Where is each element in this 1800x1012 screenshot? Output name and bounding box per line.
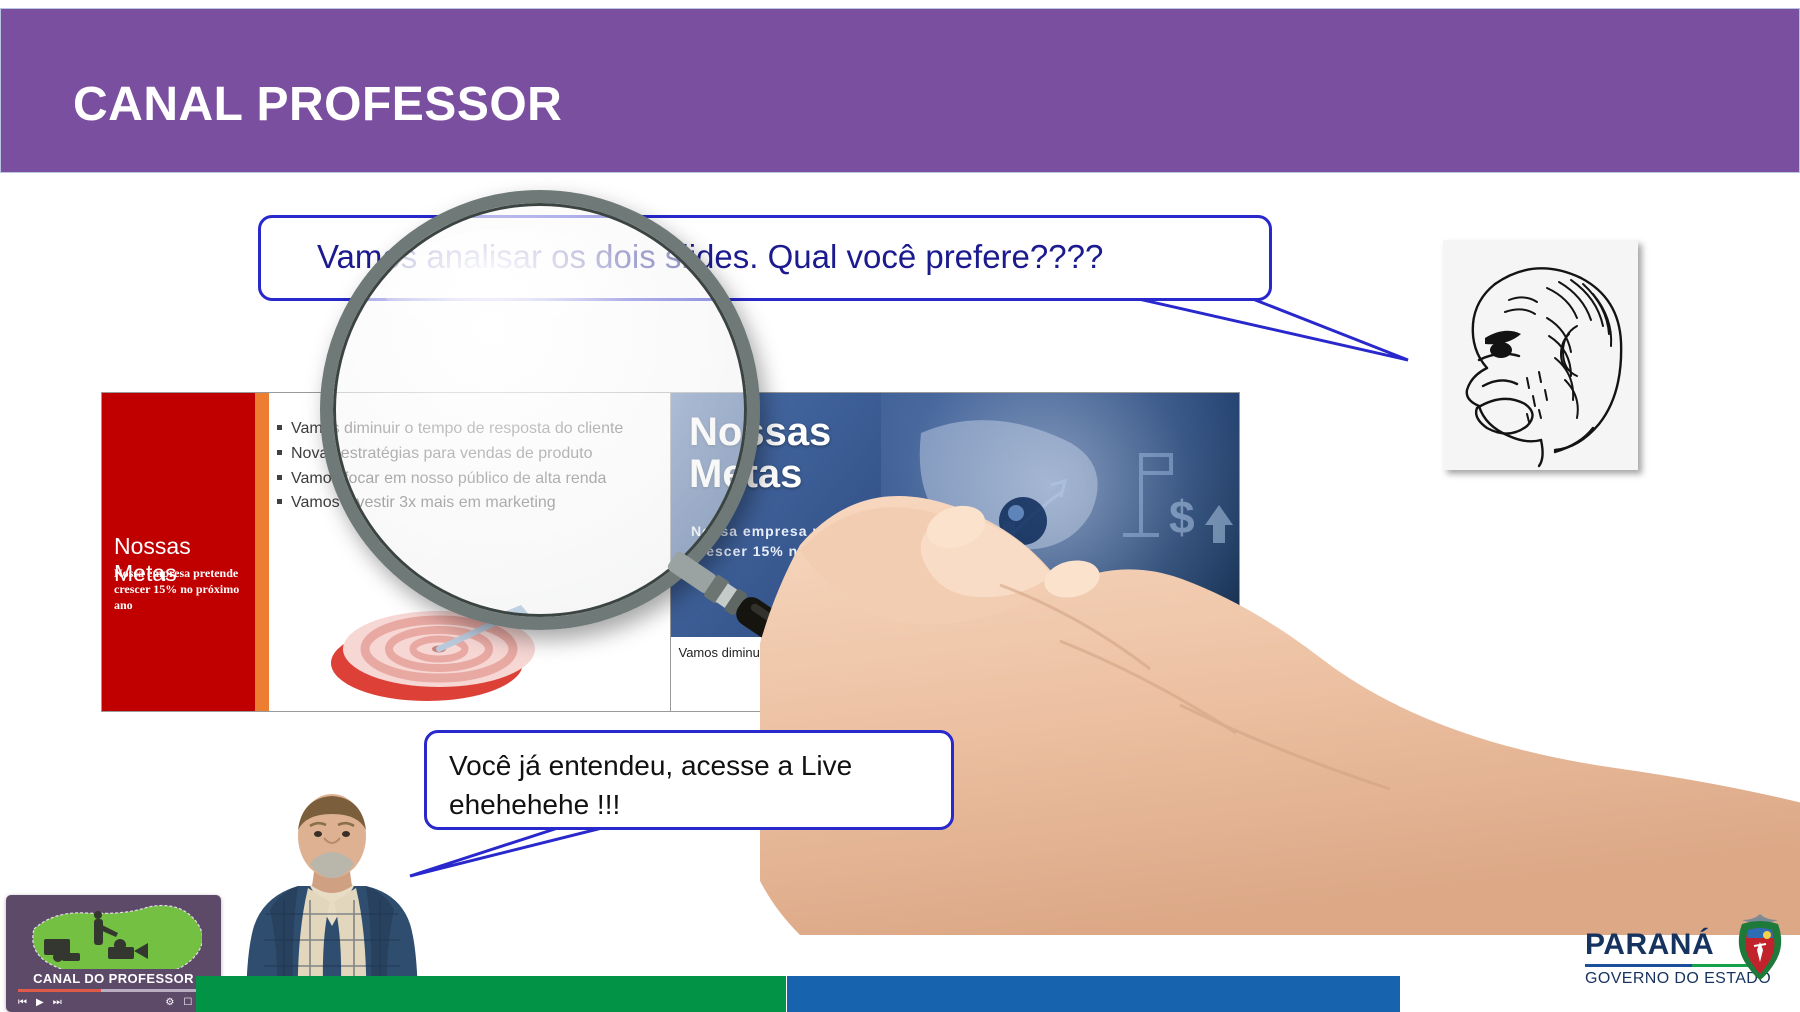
right-slide-caption-1: Vamos diminuir o tempo de resposta do cl… [671,639,956,712]
page-title: CANAL PROFESSOR [73,77,562,132]
parana-wordmark: PARANÁ [1585,928,1714,962]
chart-icon [1076,593,1122,639]
video-card-title: CANAL DO PROFESSOR [6,971,221,986]
speech-bubble-top: Vamos analisar os dois slides. Qual você… [258,215,1272,301]
right-slide-title: Nossas Metas [689,411,949,495]
settings-icon[interactable]: ⚙ [165,997,174,1008]
right-slide-caption-row: Vamos diminuir o tempo de resposta do cl… [671,639,1240,712]
right-slide-title-line1: Nossas [689,410,831,454]
shouting-face-sketch [1443,240,1638,470]
caption-text: Vamos diminuir o tempo de resposta do cl… [678,645,948,660]
caption-text: Novas estratégias para vendas de produto [976,645,1221,660]
prev-icon[interactable]: ⏮ [18,997,27,1008]
list-item: Vamos investir 3x mais em marketing [277,491,667,516]
right-slide-caption-2: Novas estratégias para vendas de produto [956,639,1240,712]
list-item: Novas estratégias para vendas de produto [277,442,667,467]
parana-state-map-icon [22,903,202,969]
left-slide-subtitle: Nossa empresa pretende crescer 15% no pr… [114,565,259,614]
dartboard-target-icon [307,553,607,712]
right-slide-hero-photo: $ Nossas Metas Nossa empresa pretende cr… [671,393,1240,637]
stopwatch-icon [791,593,837,639]
parana-government-logo: PARANÁ GOVERNO DO ESTADO [1585,920,1785,1000]
left-slide-bullet-list: Vamos diminuir o tempo de resposta do cl… [277,417,667,516]
right-slide-title-line2: Metas [689,452,802,496]
speech-bubble-bottom-text: Você já entendeu, acesse a Live eheheheh… [449,747,939,824]
bottom-bubble-line2: ehehehehe !!! [449,789,620,820]
video-controls[interactable]: ⏮ ▶ ⏭ ⚙ ☐ ◮ [18,995,209,1009]
bottom-bar-blue [787,976,1400,1012]
right-slide-subtitle-line2: crescer 15% no próximo ano [691,543,908,559]
right-slide-subtitle-line1: Nossa empresa pretende [691,523,880,539]
slide-thumbnail-left[interactable]: Nossas Metas Nossa empresa pretende cres… [101,392,671,712]
svg-text:$: $ [1169,491,1195,543]
right-slide-subtitle: Nossa empresa pretende crescer 15% no pr… [691,521,991,562]
list-item: Vamos focar em nosso público de alta ren… [277,467,667,492]
video-progress-fill [18,989,101,992]
video-progress-bar[interactable] [18,989,209,992]
slide-thumbnail-right[interactable]: $ Nossas Metas Nossa empresa pretende cr… [670,392,1240,712]
list-item: Vamos diminuir o tempo de resposta do cl… [277,417,667,442]
bottom-bar-green [196,976,786,1012]
speech-bubble-top-text: Vamos analisar os dois slides. Qual você… [317,238,1103,276]
presentation-slide: CANAL PROFESSOR Vamos analisar os dois s… [0,0,1800,1012]
speech-bubble-bottom: Você já entendeu, acesse a Live eheheheh… [424,730,954,830]
play-icon[interactable]: ▶ [36,997,44,1008]
header-band: CANAL PROFESSOR [0,8,1800,173]
canal-do-professor-video-card[interactable]: CANAL DO PROFESSOR ⏮ ▶ ⏭ ⚙ ☐ ◮ [6,895,221,1012]
bottom-bubble-line1: Você já entendeu, acesse a Live [449,750,852,781]
parana-coat-of-arms-icon [1728,912,1792,986]
next-icon[interactable]: ⏭ [53,997,62,1008]
theater-icon[interactable]: ☐ [183,997,192,1008]
